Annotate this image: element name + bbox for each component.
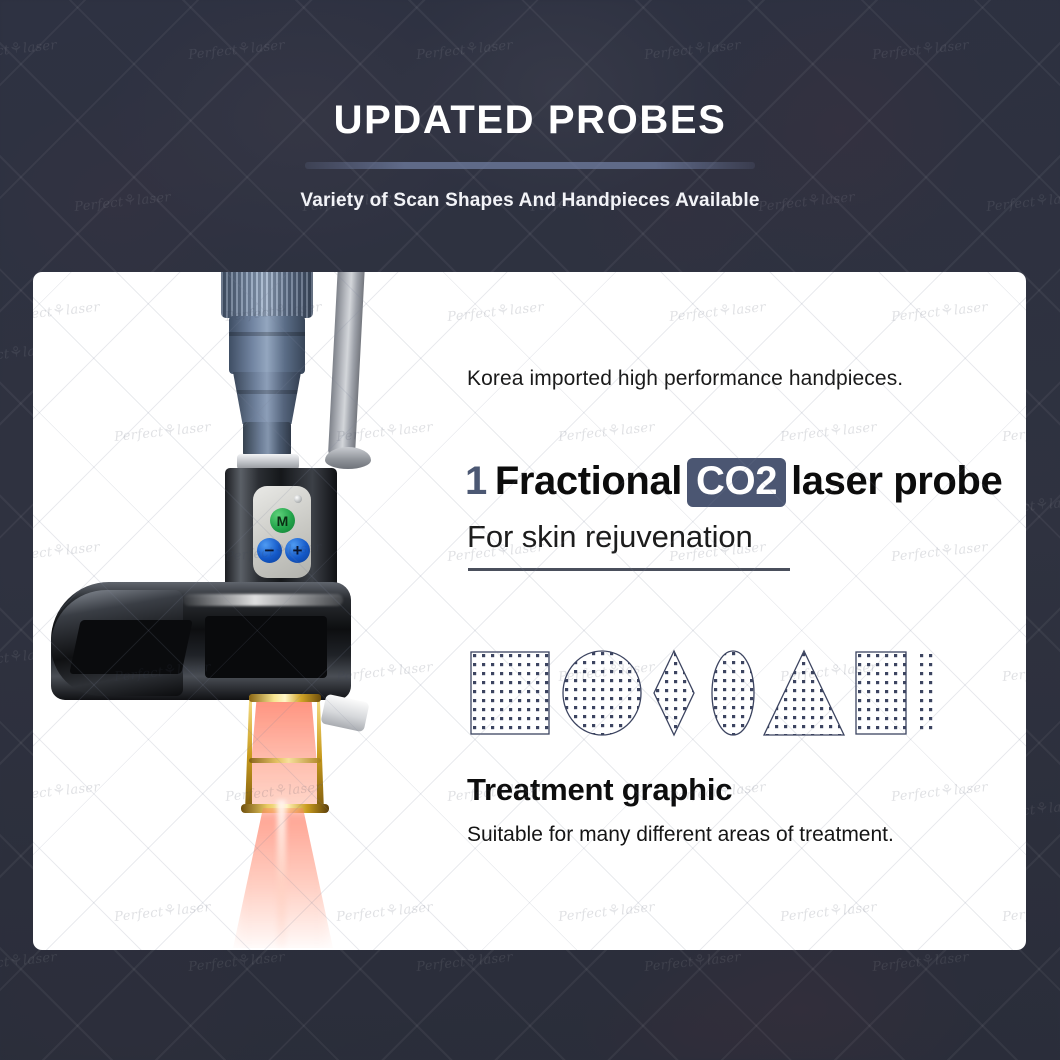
shape-circle [562,649,642,737]
probe-heading: 1FractionalCO2laser probe [465,458,1002,507]
gold-spacer-left-strut [245,696,252,812]
shape-ellipse [711,649,755,737]
probe-subtitle: For skin rejuvenation [467,519,753,555]
gold-spacer-mid-ring [249,758,321,763]
handpiece-head-block: M − + [225,468,337,596]
decrease-button[interactable]: − [257,538,282,563]
connector-neck [243,422,291,456]
treatment-shape-row [465,644,965,744]
probe-number: 1 [465,459,487,503]
body-gloss-highlight [183,594,343,606]
treatment-subtitle: Suitable for many different areas of tre… [467,823,894,847]
body-matte-panel-left [69,620,192,674]
mode-button[interactable]: M [270,508,295,533]
shape-vertical-line [917,651,939,735]
connector-knurled-ring [221,272,313,318]
fiber-cable [328,272,365,458]
handpiece-product-image: M − + [33,272,453,950]
connector-mid-section [229,316,305,374]
gold-spacer-top-ring [249,694,321,702]
page-subtitle: Variety of Scan Shapes And Handpieces Av… [0,190,1060,212]
title-divider [305,162,755,169]
probe-heading-pre: Fractional [495,459,682,503]
connector-taper [233,372,301,424]
control-keypad: M − + [253,486,311,578]
probe-heading-post: laser probe [791,459,1002,503]
side-nozzle-fitting [320,694,369,732]
header: UPDATED PROBES Variety of Scan Shapes An… [0,0,1060,272]
shape-square [470,651,550,735]
laser-beam-core [277,800,286,948]
page-title: UPDATED PROBES [0,98,1060,143]
shape-rectangle [855,651,907,735]
cable-base-fitting [325,447,371,469]
lead-line: Korea imported high performance handpiec… [467,367,903,391]
co2-badge: CO2 [687,458,786,507]
shape-triangle [763,650,845,736]
card-content: Korea imported high performance handpiec… [435,272,1026,950]
indicator-led-icon [294,495,302,503]
product-card: M − + Korea imported high performance ha… [33,272,1026,950]
probe-rule [468,568,790,571]
gold-spacer-cage [245,696,323,812]
shape-diamond [653,650,695,736]
body-matte-panel-right [205,616,327,678]
treatment-title: Treatment graphic [467,772,732,808]
increase-button[interactable]: + [285,538,310,563]
